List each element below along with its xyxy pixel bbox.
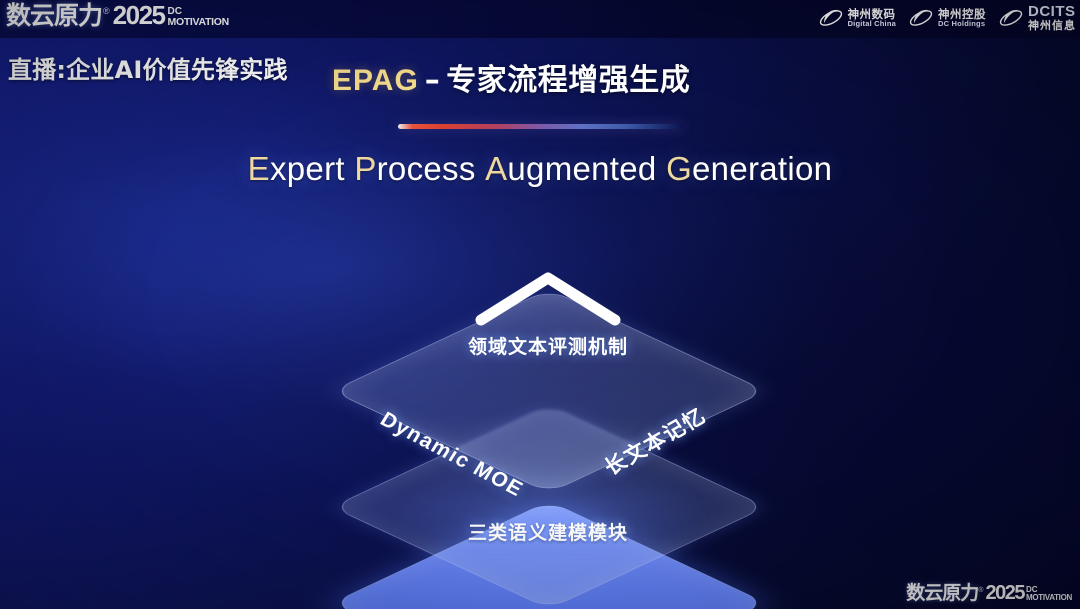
partner-name-en: DC Holdings — [938, 20, 986, 28]
title-acronym: EPAG — [332, 64, 419, 97]
watermark-dc-motivation: DC MOTIVATION — [1026, 586, 1072, 602]
swoosh-logo-icon — [818, 5, 844, 31]
partner-name-cn: 神州控股 — [938, 8, 986, 20]
subtitle-rest-augmented: ugmented — [507, 150, 656, 187]
main-title: EPAG–专家流程增强生成 — [332, 55, 690, 99]
layered-stack-diagram: 领域文本评测机制 Dynamic MOE 长文本记忆 三类语义建模模块 — [288, 228, 808, 568]
partner-label: 神州数码 Digital China — [848, 8, 896, 28]
brand-dc-line1: DC — [168, 7, 229, 17]
layer-bottom-label: 三类语义建模模块 — [468, 518, 628, 545]
subtitle-cap-g: G — [666, 150, 692, 187]
live-session-title: 直播:企业AI价值先锋实践 — [8, 50, 288, 85]
subtitle-rest-generation: eneration — [692, 150, 832, 187]
brand-dc-motivation: DC MOTIVATION — [168, 7, 229, 28]
title-chinese: 专家流程增强生成 — [446, 63, 690, 98]
swoosh-logo-icon — [998, 5, 1024, 31]
partner-name-cn: 神州数码 — [848, 8, 896, 20]
partner-name-en: DCITS — [1028, 4, 1076, 20]
subtitle-rest-process: rocess — [377, 150, 476, 187]
partner-logo-dcits: DCITS 神州信息 — [998, 4, 1076, 31]
partner-name-cn: 神州信息 — [1028, 20, 1076, 32]
partner-label: DCITS 神州信息 — [1028, 4, 1076, 31]
brand-registered-mark: ® — [103, 6, 110, 16]
watermark-logo: 数云原力 ® 2025 DC MOTIVATION — [906, 583, 1072, 603]
partner-logo-group: 神州数码 Digital China 神州控股 DC Holdings — [818, 4, 1076, 31]
partner-label: 神州控股 DC Holdings — [938, 8, 986, 28]
brand-logo: 数云原力 ® 2025 DC MOTIVATION — [6, 2, 229, 28]
chevron-up-icon — [473, 268, 623, 328]
watermark-registered-mark: ® — [978, 587, 983, 594]
partner-name-en: Digital China — [848, 20, 896, 28]
slide-canvas: 数云原力 ® 2025 DC MOTIVATION 直播:企业AI价值先锋实践 … — [0, 0, 1080, 609]
subtitle-cap-a: A — [485, 150, 507, 187]
layer-top-label: 领域文本评测机制 — [468, 332, 628, 359]
swoosh-logo-icon — [908, 5, 934, 31]
watermark-dc-line2: MOTIVATION — [1026, 594, 1072, 602]
subtitle-expansion: Expert Process Augmented Generation — [0, 150, 1080, 188]
partner-logo-dc-holdings: 神州控股 DC Holdings — [908, 5, 986, 31]
subtitle-rest-expert: xpert — [270, 150, 345, 187]
gradient-divider — [398, 124, 684, 129]
watermark-brand-cn: 数云原力 — [906, 584, 978, 603]
brand-year: 2025 — [113, 2, 165, 28]
watermark-year: 2025 — [985, 583, 1024, 603]
brand-name-cn: 数云原力 — [6, 3, 102, 28]
subtitle-cap-p: P — [354, 150, 376, 187]
partner-logo-digital-china: 神州数码 Digital China — [818, 5, 896, 31]
subtitle-cap-e: E — [248, 150, 270, 187]
brand-dc-line2: MOTIVATION — [168, 17, 229, 28]
title-dash: – — [419, 63, 447, 98]
